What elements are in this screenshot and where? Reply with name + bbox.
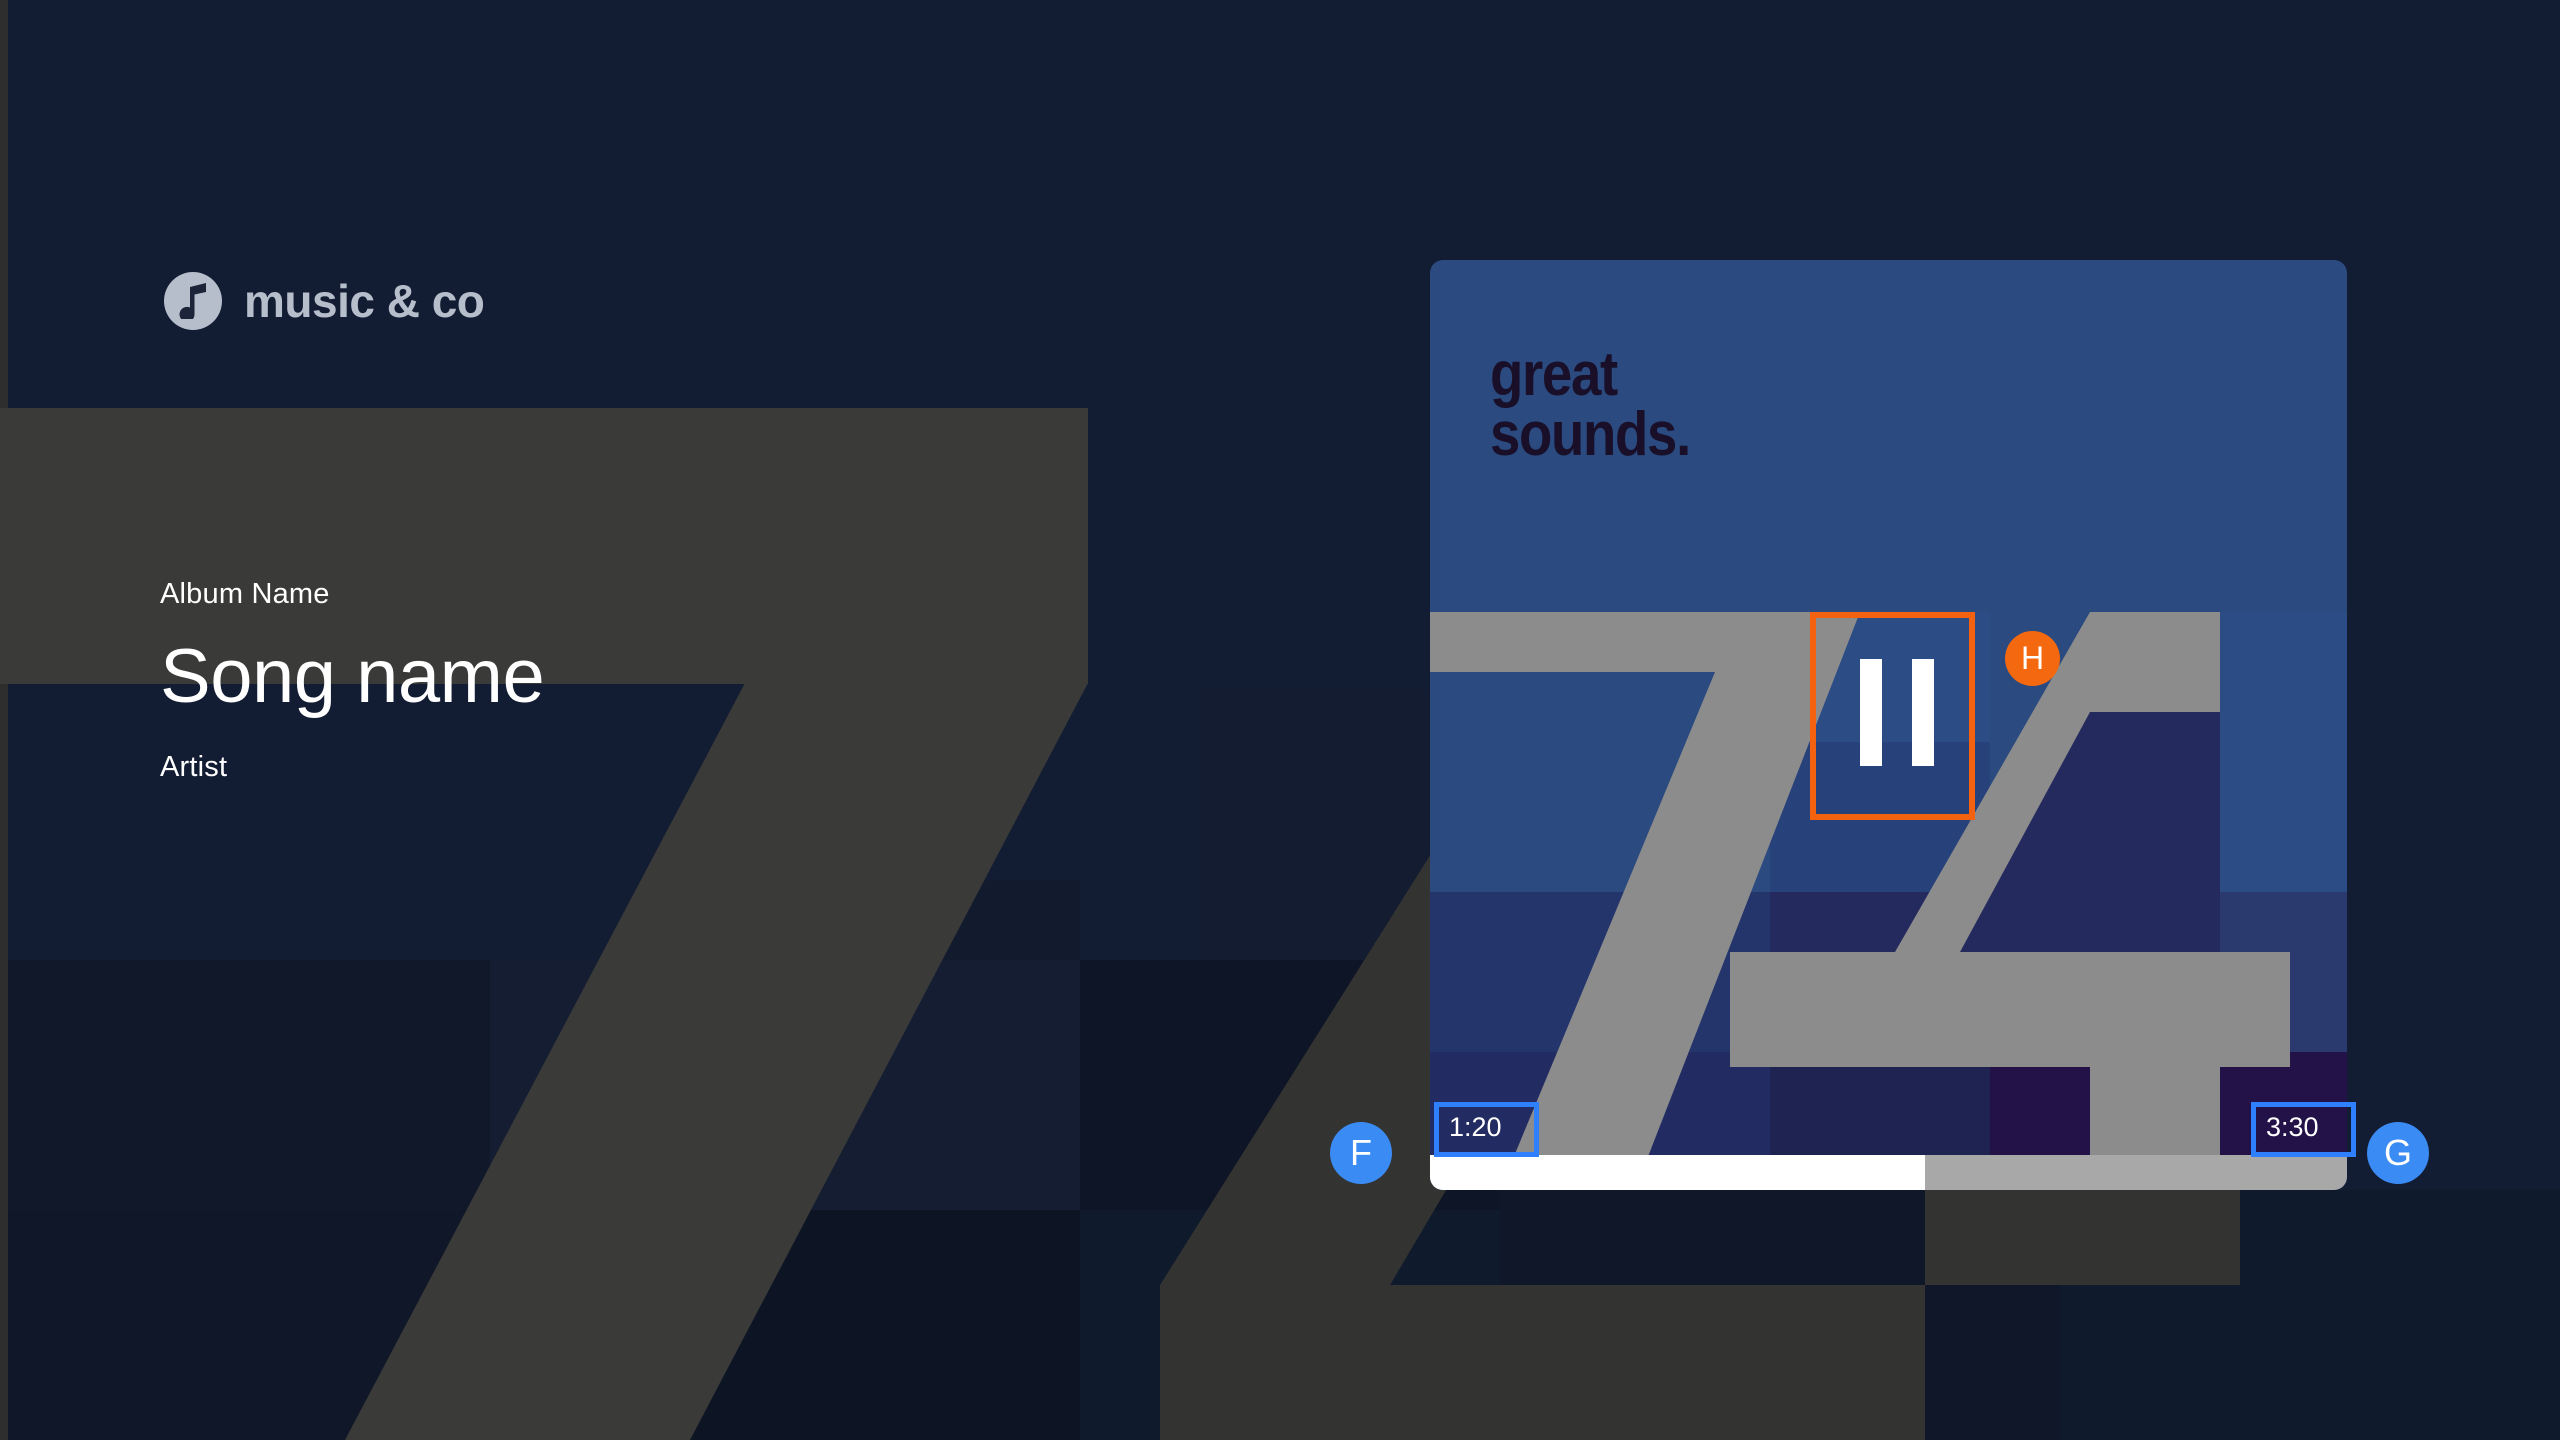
pause-icon-bar2 [1912,659,1934,766]
brand-name: music & co [244,274,484,328]
track-info: Album Name Song name Artist [160,578,1060,784]
annotation-marker-h: H [2005,631,2060,686]
album-art-title-line1: great [1490,340,1617,409]
music-note-icon [164,272,222,330]
progress-bar-fill [1430,1155,1925,1190]
pause-button[interactable] [1815,612,1979,812]
annotation-marker-f: F [1330,1122,1392,1184]
annotation-marker-g: G [2367,1122,2429,1184]
album-art-title: great sounds. [1490,345,1690,465]
left-edge-strip [0,0,8,1440]
pause-icon [1860,659,1882,766]
player-screen: music & co Album Name Song name Artist g… [0,0,2560,1440]
current-time-label: 1:20 [1440,1108,1511,1147]
artist-name-label: Artist [160,751,1060,784]
album-name-label: Album Name [160,578,1060,611]
song-title: Song name [160,637,1060,717]
total-time-label: 3:30 [2257,1108,2328,1147]
album-art-title-line2: sounds. [1490,400,1690,469]
progress-bar[interactable] [1430,1155,2347,1190]
app-header: music & co [164,272,484,330]
